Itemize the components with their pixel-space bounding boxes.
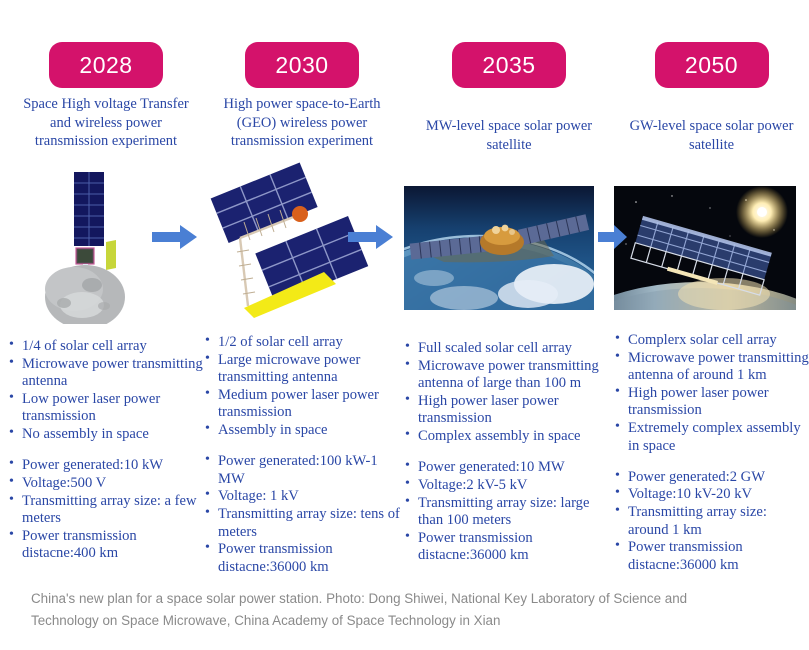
- list-item: Transmitting array size: around 1 km: [614, 504, 809, 539]
- group-separator: [204, 440, 400, 453]
- group-separator: [404, 446, 614, 459]
- column-title-2030: High power space-to-Earth (GEO) wireless…: [211, 95, 393, 151]
- list-item: Transmitting array size: tens of meters: [204, 506, 400, 541]
- list-item: Transmitting array size: large than 100 …: [404, 495, 614, 530]
- roadmap-column-2028: 2028 Space High voltage Transfer and wir…: [8, 0, 204, 580]
- group-separator: [614, 456, 809, 469]
- list-item: High power laser power transmission: [614, 385, 809, 420]
- list-item: Transmitting array size: a few meters: [8, 493, 204, 528]
- year-badge-2030: 2030: [245, 42, 359, 88]
- column-title-2035: MW-level space solar power satellite: [418, 95, 600, 154]
- list-item: Full scaled solar cell array: [404, 340, 614, 357]
- list-item: Low power laser power transmission: [8, 391, 204, 426]
- list-item: Microwave power transmitting antenna: [8, 356, 204, 391]
- arrow-2030-to-2035: [348, 224, 394, 250]
- column-title-2050: GW-level space solar power satellite: [621, 95, 803, 154]
- list-item: Power generated:10 MW: [404, 459, 614, 476]
- artwork-2050: [614, 186, 809, 331]
- list-item: Voltage:500 V: [8, 475, 204, 492]
- list-item: Large microwave power transmitting anten…: [204, 352, 400, 387]
- arrow-2028-to-2030: [152, 224, 198, 250]
- right-arrow-icon: [348, 224, 394, 250]
- artwork-2035: [404, 186, 614, 331]
- list-item: Assembly in space: [204, 422, 400, 439]
- right-arrow-icon: [598, 224, 628, 250]
- list-item: Power transmission distacne:36000 km: [614, 539, 809, 574]
- arrow-2035-to-2050: [598, 224, 644, 250]
- group-separator: [8, 444, 204, 457]
- bullets-2028: 1/4 of solar cell array Microwave power …: [8, 338, 204, 563]
- list-item: Medium power laser power transmission: [204, 387, 400, 422]
- list-item: Microwave power transmitting antenna of …: [614, 350, 809, 385]
- spec-list-2028: Power generated:10 kW Voltage:500 V Tran…: [8, 457, 204, 563]
- list-item: Power transmission distacne:36000 km: [404, 530, 614, 565]
- spec-list-2050: Power generated:2 GW Voltage:10 kV-20 kV…: [614, 469, 809, 575]
- year-badge-2035: 2035: [452, 42, 566, 88]
- list-item: Voltage:2 kV-5 kV: [404, 477, 614, 494]
- list-item: Voltage:10 kV-20 kV: [614, 486, 809, 503]
- capability-list-2030: 1/2 of solar cell array Large microwave …: [204, 334, 400, 440]
- list-item: Complex assembly in space: [404, 428, 614, 445]
- roadmap-column-2050: 2050 GW-level space solar power satellit…: [614, 0, 809, 580]
- list-item: No assembly in space: [8, 426, 204, 443]
- satellite-over-earth-photo: [404, 186, 594, 310]
- roadmap-column-2035: 2035 MW-level space solar power satellit…: [404, 0, 614, 580]
- list-item: Complerx solar cell array: [614, 332, 809, 349]
- capability-list-2028: 1/4 of solar cell array Microwave power …: [8, 338, 204, 444]
- bullets-2030: 1/2 of solar cell array Large microwave …: [204, 334, 400, 577]
- list-item: Extremely complex assembly in space: [614, 420, 809, 455]
- list-item: Power transmission distacne:36000 km: [204, 541, 400, 576]
- column-title-2028: Space High voltage Transfer and wireless…: [15, 95, 197, 151]
- figure-caption: China's new plan for a space solar power…: [31, 588, 731, 631]
- list-item: Microwave power transmitting antenna of …: [404, 358, 614, 393]
- roadmap-column-2030: 2030 High power space-to-Earth (GEO) wir…: [204, 0, 400, 580]
- spec-list-2030: Power generated:100 kW-1 MW Voltage: 1 k…: [204, 453, 400, 576]
- spec-list-2035: Power generated:10 MW Voltage:2 kV-5 kV …: [404, 459, 614, 565]
- list-item: 1/2 of solar cell array: [204, 334, 400, 351]
- list-item: Power generated:2 GW: [614, 469, 809, 486]
- year-badge-2050: 2050: [655, 42, 769, 88]
- roadmap-infographic: 2028 Space High voltage Transfer and wir…: [0, 0, 809, 580]
- bullets-2035: Full scaled solar cell array Microwave p…: [404, 340, 614, 565]
- list-item: Power transmission distacne:400 km: [8, 528, 204, 563]
- list-item: High power laser power transmission: [404, 393, 614, 428]
- list-item: Power generated:10 kW: [8, 457, 204, 474]
- capability-list-2035: Full scaled solar cell array Microwave p…: [404, 340, 614, 446]
- year-badge-2028: 2028: [49, 42, 163, 88]
- bullets-2050: Complerx solar cell array Microwave powe…: [614, 332, 809, 575]
- right-arrow-icon: [152, 224, 198, 250]
- list-item: Power generated:100 kW-1 MW: [204, 453, 400, 488]
- capability-list-2050: Complerx solar cell array Microwave powe…: [614, 332, 809, 455]
- list-item: Voltage: 1 kV: [204, 488, 400, 505]
- list-item: 1/4 of solar cell array: [8, 338, 204, 355]
